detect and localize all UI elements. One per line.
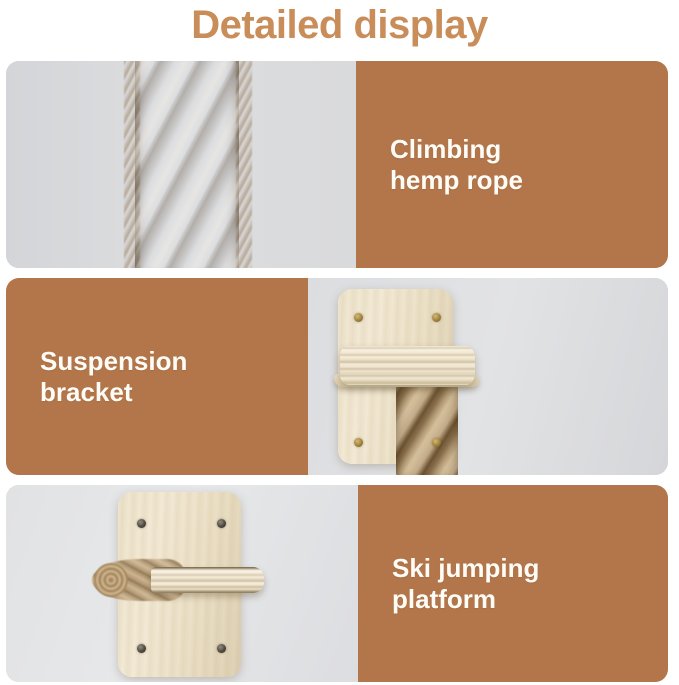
- platform-step-bar: [151, 567, 264, 593]
- label-block-climbing-hemp-rope: Climbing hemp rope: [356, 61, 668, 268]
- panel-label-text: Suspension bracket: [6, 346, 197, 408]
- screw-bottom-left: [137, 644, 146, 653]
- detail-panel-ski-jumping-platform: Ski jumping platform: [6, 485, 668, 682]
- screw-bottom-right: [217, 644, 226, 653]
- brass-screw-top-left: [354, 313, 363, 322]
- panel-label-text: Climbing hemp rope: [356, 134, 533, 196]
- photo-suspension-bracket: [308, 278, 668, 475]
- photo-climbing-hemp-rope: [6, 61, 356, 268]
- bracket-ledge: [340, 346, 475, 385]
- detail-display-page: Detailed display Climbing hemp rope Susp…: [0, 0, 679, 685]
- hemp-rope: [135, 61, 239, 268]
- label-block-suspension-bracket: Suspension bracket: [6, 278, 308, 475]
- panel-label-text: Ski jumping platform: [358, 553, 549, 615]
- page-title: Detailed display: [0, 2, 679, 48]
- detail-panel-suspension-bracket: Suspension bracket: [6, 278, 668, 475]
- hanging-hemp-rope: [396, 374, 458, 475]
- brass-screw-bottom-right: [432, 438, 441, 447]
- label-block-ski-jumping-platform: Ski jumping platform: [358, 485, 668, 682]
- detail-panel-climbing-hemp-rope: Climbing hemp rope: [6, 61, 668, 268]
- brass-screw-top-right: [432, 313, 441, 322]
- screw-top-right: [217, 519, 226, 528]
- photo-ski-jumping-platform: [6, 485, 358, 682]
- screw-top-left: [137, 519, 146, 528]
- rope-coil-end: [94, 563, 128, 597]
- brass-screw-bottom-left: [354, 438, 363, 447]
